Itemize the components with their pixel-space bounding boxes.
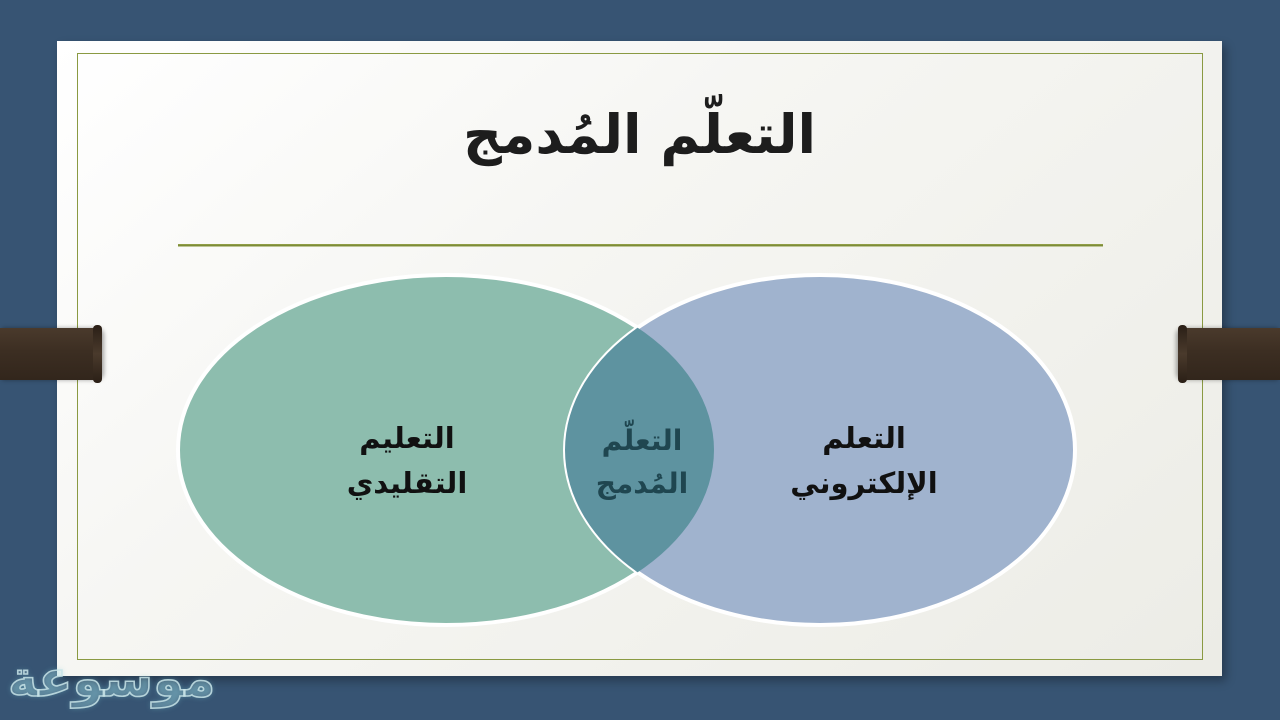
venn-label-right: التعلم الإلكتروني <box>729 416 999 506</box>
ribbon-cap-right <box>1178 325 1187 383</box>
ribbon-cap-left <box>93 325 102 383</box>
slide-canvas: التعلّم المُدمج التعليم التقليدي التعلم … <box>0 0 1280 720</box>
venn-label-left: التعليم التقليدي <box>282 416 532 506</box>
page-title: التعلّم المُدمج <box>57 103 1222 166</box>
title-divider <box>178 244 1103 247</box>
ribbon-tab-right <box>1178 328 1280 380</box>
ribbon-tab-left <box>0 328 102 380</box>
slide-card: التعلّم المُدمج التعليم التقليدي التعلم … <box>57 41 1222 676</box>
venn-label-intersection: التعلّم المُدمج <box>562 419 722 506</box>
